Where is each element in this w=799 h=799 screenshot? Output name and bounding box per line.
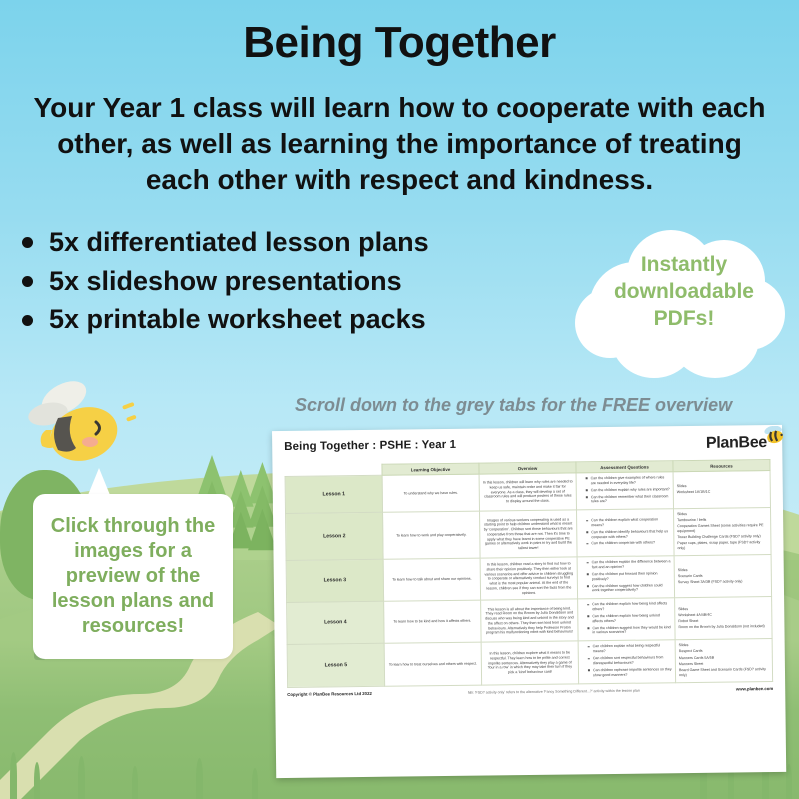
resource-item: Slides	[677, 483, 767, 489]
table-row: Lesson 1 To understand why we have rules…	[285, 471, 770, 514]
page-subtitle: Your Year 1 class will learn how to coop…	[30, 90, 769, 197]
lesson-objective: To learn how to work and play cooperativ…	[383, 511, 481, 559]
question-item: Can the children explain the difference …	[587, 560, 671, 570]
page-title: Being Together	[0, 18, 799, 68]
resource-item: Slides	[677, 511, 767, 517]
lesson-objective: To learn how to treat ourselves and othe…	[384, 642, 482, 686]
lesson-label: Lesson 3	[286, 560, 384, 603]
resource-item: Slides	[679, 642, 769, 648]
grass-blade	[252, 768, 258, 799]
question-list: Can the children explain how being kind …	[581, 602, 671, 636]
resource-item: Worksheet 1A/1B/1C	[677, 489, 767, 495]
resource-item: Manners Cards 5A/5B	[679, 655, 769, 661]
table-row: Lesson 2 To learn how to work and play c…	[286, 508, 772, 561]
resource-item: Room on the Broom by Julia Donaldson (no…	[678, 624, 768, 630]
resource-item: Scenario Cards	[678, 573, 768, 579]
lesson-overview: In this lesson, children will learn why …	[479, 473, 576, 511]
lesson-overview-document[interactable]: Being Together : PSHE : Year 1 PlanBee .	[272, 425, 786, 778]
bullet-dot-icon	[22, 315, 33, 326]
cloud-badge: Instantly downloadable PDFs!	[575, 226, 793, 381]
question-item: Can the children explain how being unkin…	[587, 613, 671, 623]
resource-item: Survey Sheet 3A/3B (FSD? activity only)	[678, 579, 768, 585]
lesson-label: Lesson 5	[287, 644, 385, 688]
document-footer: Copyright © PlanBee Resources Ltd 2022 N…	[287, 686, 773, 697]
document-title: Being Together : PSHE : Year 1	[284, 439, 456, 453]
lesson-overview: Images of various workers cooperating is…	[480, 510, 578, 558]
question-item: Can the children suggest how children co…	[587, 583, 671, 593]
table-row: Lesson 5 To learn how to treat ourselves…	[287, 639, 772, 687]
lesson-resources: Slides Worksheet 4A/4B/4C Robot Sheet Ro…	[675, 597, 773, 640]
question-item: Can the children identify behaviours tha…	[586, 529, 670, 539]
resource-item: Robot Sheet	[678, 618, 768, 624]
bullet-dot-icon	[22, 276, 33, 287]
grass-blade	[10, 752, 17, 799]
resource-item: Board Game Sheet and Scenario Cards (FSD…	[679, 667, 769, 678]
lesson-questions: Can the children explain what cooperatio…	[577, 509, 675, 557]
speech-bubble[interactable]: Click through the images for a preview o…	[33, 494, 233, 659]
grass-blade	[196, 758, 203, 799]
resource-item: Cooperation Games Sheet (some activities…	[677, 524, 767, 535]
resource-item: Respect Cards	[679, 648, 769, 654]
lesson-resources: Slides Worksheet 1A/1B/1C	[673, 471, 770, 509]
resource-item: Worksheet 4A/4B/4C	[678, 612, 768, 618]
question-list: Can the children give examples of where …	[580, 475, 670, 504]
poster-canvas: Being Together Your Year 1 class will le…	[0, 0, 799, 799]
cloud-line-3: PDFs!	[575, 306, 793, 333]
question-item: Can the children explain how being kind …	[587, 602, 671, 612]
lesson-plan-table: Learning Objective Overview Assessment Q…	[284, 459, 773, 688]
grass-blade	[34, 762, 40, 799]
lesson-label: Lesson 1	[285, 475, 382, 513]
list-item: 5x differentiated lesson plans	[22, 228, 562, 258]
cloud-line-2: downloadable	[575, 279, 793, 306]
question-list: Can the children explain what cooperatio…	[580, 517, 670, 546]
question-list: Can children explain what being respectf…	[582, 644, 672, 678]
lesson-questions: Can the children explain how being kind …	[578, 598, 676, 641]
bee-mascot-icon	[22, 378, 142, 470]
table-row: Lesson 4 To learn how to be kind and how…	[287, 597, 772, 645]
lesson-label: Lesson 4	[287, 602, 385, 645]
table-row: Lesson 3 To learn how to talk about and …	[286, 555, 771, 603]
question-list: Can the children explain the difference …	[581, 560, 671, 594]
lesson-questions: Can children explain what being respectf…	[578, 640, 676, 684]
website-url[interactable]: www.planbee.com	[736, 686, 773, 691]
question-item: Can children sort respectful behaviours …	[588, 655, 672, 665]
question-item: Can the children put forward their opini…	[587, 571, 671, 581]
grass-blade	[78, 756, 85, 799]
question-item: Can the children suggest how they would …	[587, 625, 671, 635]
scroll-hint-text: Scroll down to the grey tabs for the FRE…	[295, 395, 775, 416]
lesson-questions: Can the children give examples of where …	[576, 472, 673, 510]
lesson-label: Lesson 2	[286, 513, 384, 561]
lesson-resources: Slides Respect Cards Manners Cards 5A/5B…	[675, 639, 773, 683]
lesson-overview: In this lesson, children explore what it…	[481, 641, 579, 685]
resource-item: Slides	[678, 606, 768, 612]
question-item: Can the children give examples of where …	[586, 475, 670, 485]
lesson-objective: To learn how to talk about and share our…	[383, 558, 481, 601]
lesson-resources: Slides Scenario Cards Survey Sheet 3A/3B…	[674, 555, 772, 598]
question-item: Can the children cooperate with others?	[586, 541, 670, 547]
resource-item: Tambourine / bells	[677, 517, 767, 523]
bullet-label: 5x differentiated lesson plans	[49, 228, 429, 258]
list-item: 5x slideshow presentations	[22, 267, 562, 297]
grass-blade	[132, 766, 138, 799]
lesson-overview: In this lesson, children read a story to…	[480, 557, 578, 600]
question-item: Can the children explain why rules are i…	[586, 487, 670, 493]
cloud-line-1: Instantly	[575, 252, 793, 279]
grass-blade	[786, 764, 792, 799]
question-item: Can the children explain what cooperatio…	[586, 517, 670, 527]
list-item: 5x printable worksheet packs	[22, 305, 562, 335]
question-item: Can children rephrase impolite sentences…	[588, 667, 672, 677]
copyright-text: Copyright © PlanBee Resources Ltd 2022	[287, 691, 372, 697]
bullet-label: 5x printable worksheet packs	[49, 305, 426, 335]
footnote-text: NB: 'FSD? activity only' refers to the a…	[372, 687, 736, 695]
resource-item: Tower Building Challenge Cards (FSD? act…	[677, 534, 767, 540]
lesson-objective: To learn how to be kind and how it affec…	[384, 600, 482, 643]
resource-item: Paper cups, plates, scrap paper, tape (F…	[677, 541, 767, 552]
lesson-resources: Slides Tambourine / bells Cooperation Ga…	[673, 508, 771, 556]
lesson-overview: This lesson is all about the importance …	[481, 599, 579, 642]
planbee-logo: PlanBee .	[706, 435, 770, 452]
question-item: Can children explain what being respectf…	[588, 644, 672, 654]
speech-bubble-text: Click through the images for a preview o…	[33, 514, 233, 640]
lesson-objective: To understand why we have rules.	[382, 474, 479, 512]
table-body: Lesson 1 To understand why we have rules…	[285, 471, 773, 688]
feature-bullet-list: 5x differentiated lesson plans 5x slides…	[22, 228, 562, 344]
planbee-bee-icon	[762, 426, 786, 446]
bullet-label: 5x slideshow presentations	[49, 267, 402, 297]
cloud-badge-text: Instantly downloadable PDFs!	[575, 252, 793, 333]
question-item: Can the children remember what their cla…	[586, 494, 670, 504]
resource-item: Slides	[678, 567, 768, 573]
bullet-dot-icon	[22, 237, 33, 248]
lesson-questions: Can the children explain the difference …	[577, 556, 675, 599]
planbee-wordmark: PlanBee	[706, 435, 767, 452]
resource-item: Manners Sheet	[679, 661, 769, 667]
